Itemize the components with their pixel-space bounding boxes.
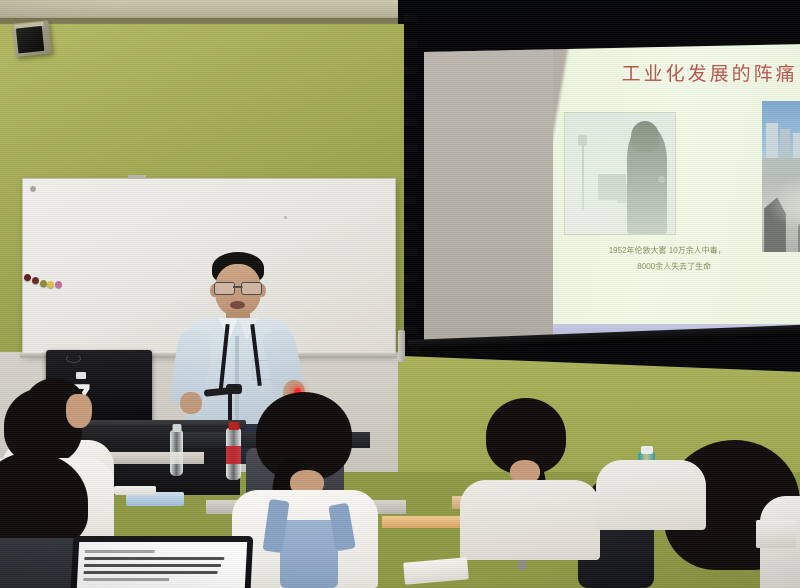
screen-notch (404, 196, 417, 204)
screen-notch (404, 274, 417, 282)
slide-caption-line1: 1952年伦敦大雾 10万余人中毒， (561, 243, 774, 258)
city-building-3 (793, 133, 800, 159)
city-ground (762, 158, 800, 174)
whiteboard-clip (128, 175, 146, 179)
classroom-scene: 工业化发展的阵痛 (0, 0, 800, 588)
overalls-bib (280, 520, 338, 588)
student-laptop[interactable] (72, 536, 252, 588)
wall-speaker (12, 20, 51, 57)
magnet-dark-red (24, 274, 31, 281)
whiteboard-corner-mark (30, 186, 36, 192)
magnet-yellow (47, 281, 54, 288)
slide-photo-london-smog (565, 113, 675, 234)
city-building-2 (780, 129, 790, 159)
monitor-brand-logo-icon (66, 354, 81, 363)
speaker-grille (16, 26, 44, 54)
slide-caption-line2: 8000余人失去了生命 (561, 259, 774, 274)
screen-bottom-knob (410, 344, 420, 354)
glasses-icon (214, 282, 262, 293)
screen-edge-notches (404, 14, 418, 359)
laptop-text-line (85, 550, 155, 553)
screen-notch (404, 144, 417, 152)
screen-notch (404, 326, 417, 334)
projection-screen: 工业化发展的阵痛 (404, 0, 800, 372)
laptop-text-line (84, 571, 218, 574)
smog-haze-overlay (762, 174, 800, 253)
screen-notch (404, 170, 417, 178)
slide-photo-city-smog (762, 174, 800, 253)
student-right-ponytail (466, 398, 596, 548)
laptop-text-line (84, 564, 221, 567)
laptop-screen[interactable] (77, 542, 247, 588)
slide-caption: 1952年伦敦大雾 10万余人中毒， 8000余人失去了生命 (561, 243, 774, 273)
screen-left-rail (398, 330, 405, 362)
presenter-mouth (230, 301, 245, 309)
screen-notch (404, 92, 417, 100)
slide-surface: 工业化发展的阵痛 (424, 44, 800, 346)
student-hair (0, 452, 88, 548)
city-building-1 (766, 123, 778, 159)
student-right-shoulder (596, 400, 706, 520)
paper-sheet-left (114, 486, 156, 495)
paper-sheet-right (403, 557, 469, 584)
magnet-pink (55, 281, 62, 288)
slide-photo-city-blue-sky (762, 101, 800, 173)
screen-notch (404, 118, 417, 126)
bottle-cap (172, 424, 181, 432)
whiteboard-speck (284, 216, 287, 219)
magnet-olive (40, 280, 47, 287)
screen-notch (404, 40, 417, 48)
water-bottle-clear-center (170, 430, 183, 476)
presenter-hand-left (180, 392, 202, 414)
student-torso (596, 460, 706, 530)
magnet-maroon (32, 277, 39, 284)
paper-sheet-far-right (756, 520, 796, 548)
slide-unlit-area (424, 44, 553, 346)
screen-notch (404, 66, 417, 74)
screen-notch (404, 14, 417, 22)
student-torso (460, 480, 600, 560)
laptop-text-line (83, 578, 169, 581)
student-hand-raised (66, 394, 92, 428)
fog-overlay (565, 113, 675, 234)
laptop-text-line (84, 557, 224, 560)
screen-notch (404, 222, 417, 230)
slide-title: 工业化发展的阵痛 (622, 59, 798, 86)
screen-notch (404, 248, 417, 256)
desk-front-wood (382, 516, 462, 528)
screen-notch (404, 300, 417, 308)
